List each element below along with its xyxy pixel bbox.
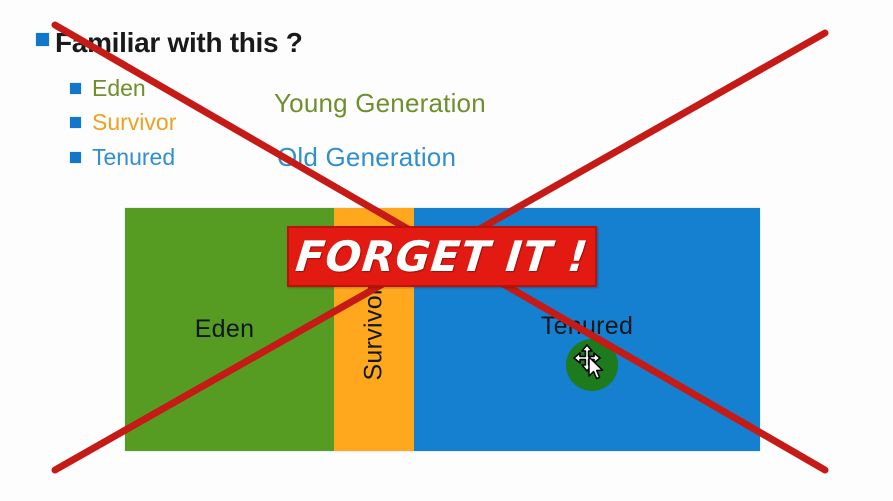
bullet-marker-tenured [70, 152, 81, 163]
bullet-label-tenured: Tenured [92, 144, 175, 171]
heap-block-label-survivor: Survivor [360, 286, 389, 380]
bullet-label-survivor: Survivor [92, 109, 176, 136]
bullet-marker-survivor [70, 117, 81, 128]
arrow-pointer-icon[interactable] [588, 356, 606, 382]
forget-it-stamp-label: FORGET IT ! [293, 232, 590, 281]
page-title: Familiar with this ? [55, 27, 303, 59]
bullet-marker-eden [70, 83, 81, 94]
heap-block-label-eden: Eden [195, 315, 255, 344]
title-bullet-marker [36, 33, 49, 46]
caption-old-generation: Old Generation [277, 142, 456, 173]
heap-block-label-tenured: Tenured [541, 312, 633, 341]
slide-canvas: Familiar with this ? Eden Survivor Tenur… [0, 0, 893, 501]
bullet-label-eden: Eden [92, 75, 146, 102]
caption-young-generation: Young Generation [274, 88, 486, 119]
forget-it-stamp: FORGET IT ! [287, 226, 597, 287]
